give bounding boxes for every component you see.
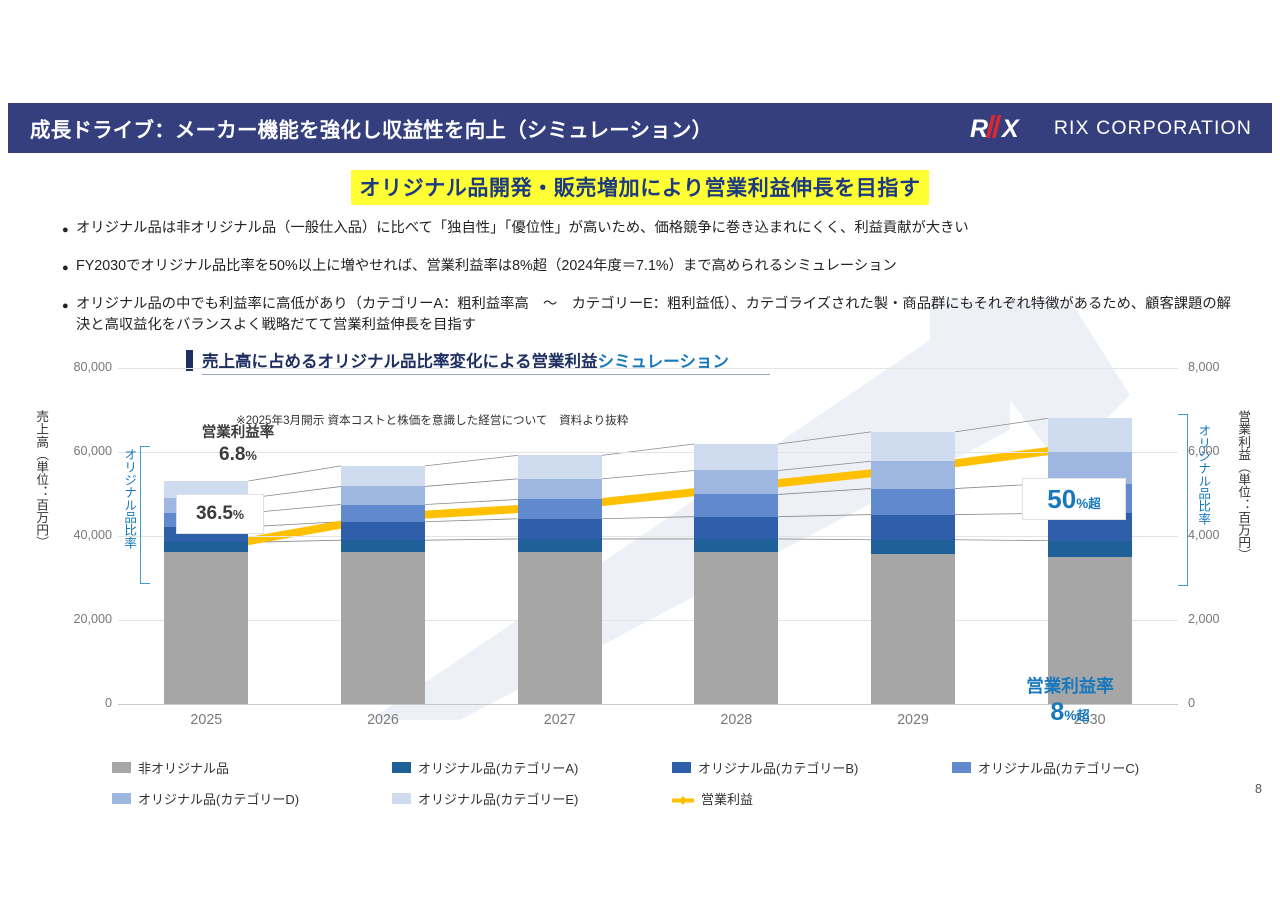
- bullet-marker-icon: ●: [62, 294, 76, 337]
- bar-segment[interactable]: [341, 505, 425, 522]
- bar-segment[interactable]: [871, 432, 955, 461]
- bar-segment[interactable]: [694, 494, 778, 516]
- x-axis-tick-label: 2027: [471, 712, 648, 728]
- bar-segment[interactable]: [871, 489, 955, 515]
- callout-ratio-2025-box: 36.5%: [176, 494, 264, 534]
- legend-label: オリジナル品(カテゴリーC): [978, 758, 1139, 777]
- bar-segment[interactable]: [518, 499, 602, 518]
- bullet-text: オリジナル品は非オリジナル品（一般仕入品）に比べて「独自性」「優位性」が高いため…: [76, 218, 969, 240]
- bullet-marker-icon: ●: [62, 218, 76, 240]
- y-axis-right-tick: 8,000: [1188, 360, 1220, 374]
- callout-ratio-2030-box: 50%超: [1022, 478, 1126, 520]
- slide: 成長ドライブ：メーカー機能を強化し収益性を向上（シミュレーション） R X RI…: [0, 0, 1280, 904]
- gridline: [118, 620, 1178, 621]
- legend-swatch: [672, 762, 691, 773]
- bullet-list: ● オリジナル品は非オリジナル品（一般仕入品）に比べて「独自性」「優位性」が高い…: [62, 218, 1242, 337]
- gridline: [118, 368, 1178, 369]
- y-axis-left-tick: 80,000: [73, 360, 112, 374]
- chart-legend: 非オリジナル品オリジナル品(カテゴリーA)オリジナル品(カテゴリーB)オリジナル…: [112, 758, 1232, 820]
- connector-line: [425, 455, 518, 466]
- profit-line[interactable]: [206, 446, 1089, 549]
- connector-line: [778, 489, 871, 495]
- logo-wordmark: RIX CORPORATION: [1054, 117, 1252, 140]
- y-axis-left-tick: 0: [105, 696, 112, 710]
- legend-label: オリジナル品(カテゴリーD): [138, 789, 299, 808]
- callout-rate-2030-label: 営業利益率: [980, 676, 1160, 697]
- bar-segment[interactable]: [1048, 541, 1132, 557]
- bar-column[interactable]: [341, 368, 425, 704]
- bar-segment[interactable]: [694, 552, 778, 704]
- connector-line: [425, 499, 518, 504]
- legend-swatch: [392, 793, 411, 804]
- legend-item[interactable]: オリジナル品(カテゴリーC): [952, 758, 1232, 777]
- legend-label: 営業利益: [701, 789, 753, 808]
- bar-column[interactable]: [518, 368, 602, 704]
- y-axis-right-title: 営業利益（単位：百万円）: [1236, 410, 1249, 590]
- bullet-text: FY2030でオリジナル品比率を50%以上に増やせれば、営業利益率は8%超（20…: [76, 256, 897, 278]
- y-axis-left-tick: 60,000: [73, 444, 112, 458]
- bar-segment[interactable]: [694, 444, 778, 470]
- legend-item[interactable]: オリジナル品(カテゴリーA): [392, 758, 672, 777]
- bar-segment[interactable]: [164, 542, 248, 552]
- svg-text:X: X: [1000, 115, 1020, 143]
- bar-segment[interactable]: [341, 466, 425, 487]
- connector-line: [955, 418, 1048, 431]
- x-axis-tick-label: 2026: [295, 712, 472, 728]
- y-axis-left-title: 売上高（単位：百万円）: [34, 410, 47, 590]
- legend-item[interactable]: 非オリジナル品: [112, 758, 392, 777]
- legend-label: オリジナル品(カテゴリーA): [418, 758, 578, 777]
- subtitle-banner: オリジナル品開発・販売増加により営業利益伸長を目指す: [0, 170, 1280, 205]
- bar-segment[interactable]: [341, 486, 425, 504]
- legend-swatch: [392, 762, 411, 773]
- connector-line: [602, 470, 695, 478]
- y-axis-right-tick: 2,000: [1188, 612, 1220, 626]
- gridline: [118, 536, 1178, 537]
- bar-segment[interactable]: [518, 539, 602, 552]
- legend-item[interactable]: オリジナル品(カテゴリーB): [672, 758, 952, 777]
- bar-segment[interactable]: [164, 552, 248, 704]
- x-axis-tick-label: 2028: [648, 712, 825, 728]
- bar-column[interactable]: [1048, 368, 1132, 704]
- y-axis-left-tick: 20,000: [73, 612, 112, 626]
- y-axis-left-tick: 40,000: [73, 528, 112, 542]
- bar-segment[interactable]: [871, 515, 955, 540]
- bar-column[interactable]: [164, 368, 248, 704]
- connector-line: [248, 466, 341, 481]
- page-title: 成長ドライブ：メーカー機能を強化し収益性を向上（シミュレーション）: [8, 113, 712, 143]
- callout-rate-2030: 営業利益率 8%超: [980, 676, 1160, 727]
- callout-rate-2025-label: 営業利益率: [168, 424, 308, 443]
- connector-line: [425, 519, 518, 522]
- list-item: ● FY2030でオリジナル品比率を50%以上に増やせれば、営業利益率は8%超（…: [62, 256, 1242, 278]
- bar-segment[interactable]: [871, 461, 955, 488]
- ratio-bracket-right: [1178, 414, 1188, 586]
- bar-segment[interactable]: [341, 540, 425, 552]
- ratio-label-left: オリジナル品比率: [122, 448, 135, 578]
- legend-item[interactable]: オリジナル品(カテゴリーD): [112, 789, 392, 808]
- ratio-label-right: オリジナル品比率: [1196, 424, 1209, 554]
- connector-line: [425, 539, 518, 540]
- bar-segment[interactable]: [518, 455, 602, 479]
- plot-area: 0020,0002,00040,0004,00060,0006,00080,00…: [118, 368, 1178, 704]
- callout-ratio-2025-value: 36.5%: [196, 503, 244, 525]
- page-number: 8: [1255, 782, 1262, 796]
- rix-logo-icon: R X: [970, 112, 1044, 144]
- connector-line: [778, 539, 871, 540]
- svg-text:R: R: [970, 115, 988, 143]
- legend-label: オリジナル品(カテゴリーB): [698, 758, 858, 777]
- bar-segment[interactable]: [518, 552, 602, 704]
- list-item: ● オリジナル品の中でも利益率に高低があり（カテゴリーA：粗利益率高 ～ カテゴ…: [62, 294, 1242, 337]
- callout-rate-2025: 営業利益率 6.8%: [168, 424, 308, 467]
- bar-segment[interactable]: [341, 552, 425, 704]
- bullet-text: オリジナル品の中でも利益率に高低があり（カテゴリーA：粗利益率高 ～ カテゴリー…: [76, 294, 1242, 337]
- bar-segment[interactable]: [518, 519, 602, 539]
- y-axis-right-tick: 0: [1188, 696, 1195, 710]
- slide-header: 成長ドライブ：メーカー機能を強化し収益性を向上（シミュレーション） R X RI…: [8, 103, 1272, 153]
- legend-line-marker-icon: [672, 793, 694, 804]
- callout-rate-2025-value: 6.8%: [168, 443, 308, 467]
- callout-ratio-2030-value: 50%超: [1047, 486, 1100, 512]
- legend-label: 非オリジナル品: [138, 758, 229, 777]
- connector-line: [778, 461, 871, 470]
- connector-line: [602, 444, 695, 455]
- bar-segment[interactable]: [871, 554, 955, 704]
- list-item: ● オリジナル品は非オリジナル品（一般仕入品）に比べて「独自性」「優位性」が高い…: [62, 218, 1242, 240]
- bar-segment[interactable]: [694, 470, 778, 494]
- callout-rate-2030-value: 8%超: [980, 697, 1160, 727]
- bar-segment[interactable]: [694, 517, 778, 539]
- bar-column[interactable]: [871, 368, 955, 704]
- legend-item[interactable]: オリジナル品(カテゴリーE): [392, 789, 672, 808]
- legend-swatch: [952, 762, 971, 773]
- connector-line: [602, 517, 695, 519]
- company-logo: R X RIX CORPORATION: [970, 112, 1272, 144]
- bar-segment[interactable]: [518, 479, 602, 500]
- connector-line: [955, 540, 1048, 541]
- subtitle-text: オリジナル品開発・販売増加により営業利益伸長を目指す: [351, 170, 928, 205]
- connector-line: [778, 432, 871, 444]
- bar-segment[interactable]: [341, 522, 425, 540]
- bar-column[interactable]: [694, 368, 778, 704]
- bar-segment[interactable]: [694, 539, 778, 552]
- ratio-bracket-left: [140, 446, 150, 584]
- chart: 売上高に占めるオリジナル品比率変化による営業利益シミュレーション ※2025年3…: [0, 336, 1280, 756]
- bullet-marker-icon: ●: [62, 256, 76, 278]
- legend-item[interactable]: 営業利益: [672, 789, 952, 808]
- connector-line: [778, 515, 871, 517]
- bar-segment[interactable]: [871, 540, 955, 555]
- legend-swatch: [112, 793, 131, 804]
- x-axis-tick-label: 2029: [825, 712, 1002, 728]
- connector-line: [425, 479, 518, 487]
- bar-segment[interactable]: [1048, 418, 1132, 452]
- legend-swatch: [112, 762, 131, 773]
- x-axis-tick-label: 2025: [118, 712, 295, 728]
- legend-label: オリジナル品(カテゴリーE): [418, 789, 578, 808]
